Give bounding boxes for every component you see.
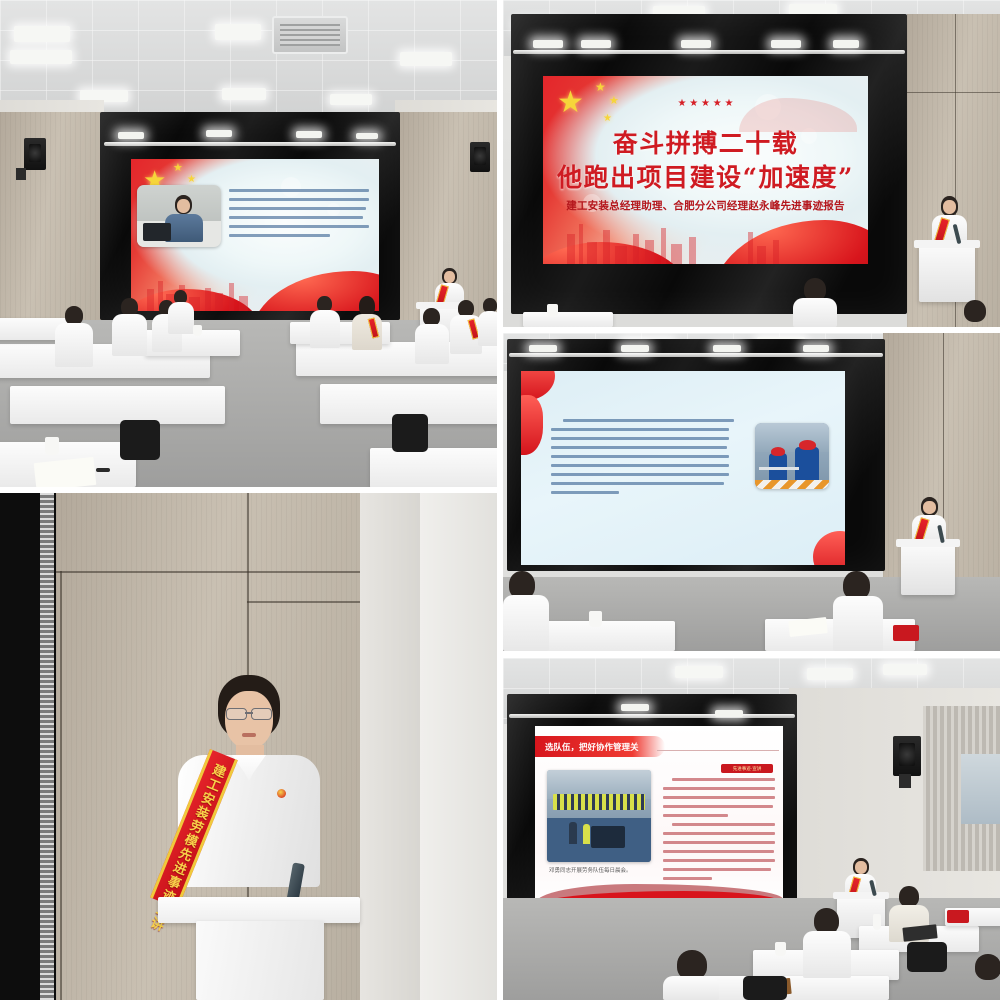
stage-spotlight — [533, 40, 563, 48]
ceiling-light — [400, 52, 452, 66]
slide-corner-tag: 先进事迹·宣讲 — [721, 764, 773, 773]
photo-safety-barrier — [755, 480, 829, 489]
podium — [196, 921, 324, 1000]
paper-cup — [547, 304, 558, 317]
paper-cup — [193, 325, 202, 336]
notepad — [34, 457, 97, 487]
slide-body-text — [551, 419, 729, 500]
speaker-face — [855, 861, 867, 874]
slide-subtitle: 建工安装总经理助理、合肥分公司经理赵永峰先进事迹报告 — [543, 198, 868, 213]
stage-spotlight — [296, 131, 322, 138]
audience-head — [975, 954, 1000, 980]
star-row-decoration: ★ ★ ★ ★ ★ — [543, 98, 868, 109]
wall-speaker-right — [470, 142, 490, 172]
red-swoosh-decoration — [521, 395, 543, 455]
slide-title-page: ★ ★ ★ ★ ★ ★ ★ ★ ★ 奋斗拼搏二十载 他跑出项目建设“加速度” 建… — [543, 76, 868, 264]
stage-spotlight — [713, 345, 741, 352]
pen — [96, 468, 110, 472]
podium-top — [833, 892, 889, 899]
slide-body-text — [663, 778, 775, 886]
audience-member — [833, 571, 883, 651]
podium-top — [914, 240, 980, 248]
audience-body — [310, 310, 340, 348]
audience-body — [478, 311, 497, 346]
panel-bottom-right-section-slide: 选队伍，把好协作管理关 邓勇同志开展劳务队伍每日晨会。 先进事迹·宣讲 — [503, 658, 1000, 1000]
slide-site-photo — [755, 423, 829, 489]
audience-body — [793, 298, 837, 327]
desk — [523, 312, 613, 327]
flag-star-small-icon: ★ — [173, 163, 183, 174]
audience-member — [352, 296, 382, 350]
section-heading-text: 选队伍，把好协作管理关 — [545, 741, 639, 753]
wall-column — [360, 493, 420, 1000]
ceiling-light — [14, 26, 70, 42]
glasses-icon — [225, 708, 273, 718]
panel-middle-right-narrative-slide — [503, 333, 1000, 651]
photo-railing — [759, 467, 799, 470]
stage-spotlight — [681, 40, 711, 48]
audience-body — [415, 324, 449, 364]
star-row-text: ★ ★ ★ ★ ★ — [678, 98, 734, 109]
ceiling-light — [10, 50, 72, 64]
panel-bottom-left-speaker-portrait: 建工安装劳模先进事迹宣讲 — [0, 493, 497, 1000]
ceiling-light — [330, 94, 372, 105]
audience-member — [310, 296, 340, 348]
city-skyline-decoration — [543, 218, 868, 264]
lighting-truss — [509, 353, 883, 357]
room-background: 建工安装劳模先进事迹宣讲 — [0, 493, 497, 1000]
slide-group-photo — [547, 770, 651, 862]
chair — [743, 976, 787, 1000]
chair — [907, 942, 947, 972]
wood-wall-left — [0, 112, 104, 322]
audience-member-front — [955, 300, 995, 327]
photo-person-face — [177, 199, 190, 213]
audience-member — [112, 298, 147, 356]
party-badge-icon — [277, 789, 286, 798]
lighting-truss — [513, 50, 905, 54]
section-divider — [657, 750, 779, 751]
panel-top-right-title-slide: ★ ★ ★ ★ ★ ★ ★ ★ ★ 奋斗拼搏二十载 他跑出项目建设“加速度” 建… — [503, 0, 1000, 327]
podium — [901, 543, 955, 595]
stage-spotlight — [715, 710, 743, 717]
stage-spotlight — [621, 704, 649, 711]
wall-seam-horizontal — [247, 601, 360, 603]
slide-portrait-photo — [137, 185, 221, 247]
stage-spotlight — [771, 40, 801, 48]
wall-right — [420, 493, 497, 1000]
speaker-mount-left — [16, 168, 26, 180]
audience-body — [663, 976, 719, 1000]
stage-spotlight — [118, 132, 144, 139]
audience-body — [503, 595, 549, 651]
flag-star-small-icon: ★ — [187, 175, 196, 185]
photo-caption: 邓勇同志开展劳务队伍每日晨会。 — [549, 866, 632, 874]
paper-cup — [775, 942, 786, 956]
screen-reflection-strip — [40, 493, 54, 1000]
podium-top — [158, 897, 360, 923]
audience-member — [55, 306, 93, 366]
podium-top — [896, 539, 960, 547]
window — [961, 754, 1000, 824]
podium — [919, 244, 975, 302]
audience-head — [964, 300, 986, 322]
stage-spotlight — [621, 345, 649, 352]
speaker-mouth — [242, 733, 256, 737]
ceiling-light — [807, 668, 853, 680]
paper-cup — [589, 611, 602, 627]
audience-body — [833, 596, 883, 651]
air-conditioner-vent — [272, 16, 348, 54]
water-bottle — [873, 914, 881, 930]
ceiling-light — [222, 88, 266, 100]
audience-member — [663, 950, 719, 1000]
audience-member — [503, 571, 549, 651]
audience-member — [803, 908, 851, 978]
desk — [10, 386, 225, 424]
ceiling-light — [883, 664, 927, 675]
chair — [120, 420, 160, 460]
slide-section-page: 选队伍，把好协作管理关 邓勇同志开展劳务队伍每日晨会。 先进事迹·宣讲 — [535, 726, 783, 906]
section-heading-pill: 选队伍，把好协作管理关 — [535, 736, 665, 757]
speaker-face — [225, 691, 273, 749]
stage-spotlight — [833, 40, 859, 48]
audience-member — [415, 308, 449, 364]
wall-speaker-left — [24, 138, 46, 170]
speaker-face — [923, 501, 936, 514]
speaker-mount-right — [899, 774, 911, 788]
slide-body-text — [229, 189, 369, 243]
male-speaker-portrait: 建工安装劳模先进事迹宣讲 — [158, 675, 338, 935]
room-background: ★ ★ ★ — [0, 0, 497, 487]
red-swoosh-decoration — [813, 531, 845, 565]
desk — [370, 448, 497, 487]
wall-speaker-right — [893, 736, 921, 776]
photo-hardhat-icon — [771, 447, 785, 456]
ceiling-light — [215, 24, 261, 40]
flag-star-small-icon: ★ — [603, 114, 612, 124]
photo-hardhat-icon — [799, 440, 816, 450]
host-face — [943, 200, 956, 214]
stage-spotlight — [581, 40, 611, 48]
ceiling-light — [675, 666, 723, 678]
photo-collage: ★ ★ ★ — [0, 0, 1000, 1000]
audience-head — [359, 296, 375, 316]
audience-member — [478, 298, 497, 346]
slide-title-line1: 奋斗拼搏二十载 — [543, 124, 868, 160]
slide-narrative-page — [521, 371, 845, 565]
slide-top-left: ★ ★ ★ — [131, 159, 379, 311]
room-background: 选队伍，把好协作管理关 邓勇同志开展劳务队伍每日晨会。 先进事迹·宣讲 — [503, 658, 1000, 1000]
audience-member — [168, 290, 194, 334]
slide-title-line2: 他跑出项目建设“加速度” — [543, 158, 868, 194]
wall-seam-vertical — [60, 571, 62, 1000]
audience-body — [55, 323, 93, 367]
slide-corner-tag-text: 先进事迹·宣讲 — [733, 766, 762, 772]
paper-cup — [45, 437, 59, 455]
audience-body — [803, 931, 851, 978]
lighting-truss — [104, 142, 396, 146]
audience-body — [112, 314, 147, 356]
room-background — [503, 333, 1000, 651]
stage-spotlight — [356, 133, 378, 139]
lighting-truss — [509, 714, 795, 718]
audience-member-front — [793, 278, 837, 327]
panel-top-left-auditorium: ★ ★ ★ — [0, 0, 497, 487]
wall-seam-horizontal — [56, 571, 360, 573]
stage-spotlight — [206, 130, 232, 137]
audience-head — [899, 886, 919, 907]
flag-star-small-icon: ★ — [595, 81, 606, 93]
wall-seam — [907, 92, 1000, 93]
desk — [545, 621, 675, 651]
audience-member — [973, 954, 1000, 1000]
stage-spotlight — [803, 345, 829, 352]
room-background: ★ ★ ★ ★ ★ ★ ★ ★ ★ 奋斗拼搏二十载 他跑出项目建设“加速度” 建… — [503, 0, 1000, 327]
audience-body — [168, 302, 194, 334]
host-face — [444, 271, 455, 283]
ceiling — [0, 0, 497, 112]
red-document — [947, 910, 969, 923]
chair — [392, 414, 428, 452]
red-document — [893, 625, 919, 641]
stage-spotlight — [529, 345, 557, 352]
